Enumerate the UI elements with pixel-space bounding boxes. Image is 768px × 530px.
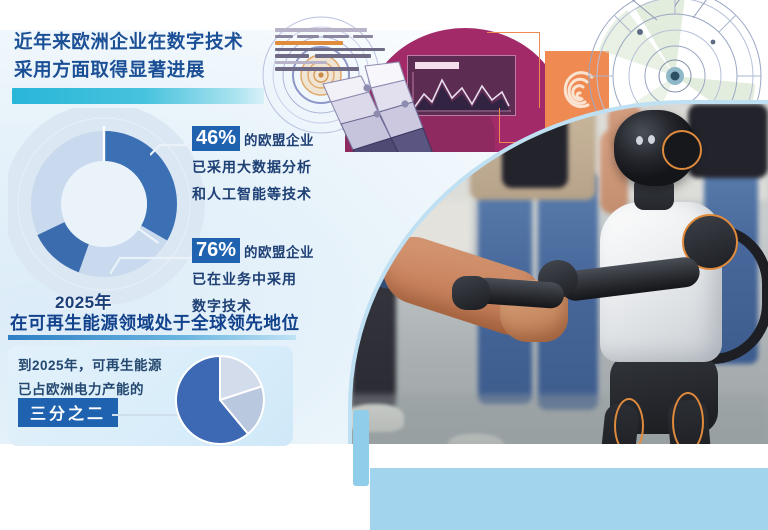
renewable-line-1: 到2025年，可再生能源 [18, 354, 162, 378]
callout-76-percent: 76% [192, 238, 240, 263]
renewable-pie-chart [170, 352, 274, 453]
callout-46-line3: 和人工智能等技术 [192, 183, 357, 205]
page-title-underline [12, 88, 264, 104]
callout-46-percent: 46% [192, 126, 240, 151]
section-title-underline [8, 335, 296, 340]
infographic-canvas: 近年来欧洲企业在数字技术 采用方面取得显著进展 2025年 46%的欧盟企业 已… [0, 0, 768, 530]
page-title: 近年来欧洲企业在数字技术 采用方面取得显著进展 [14, 28, 314, 84]
callout-46-lead: 的欧盟企业 [244, 133, 314, 148]
photo-robot-face-ring [662, 130, 702, 170]
callout-46-line2: 已采用大数据分析 [192, 156, 357, 178]
callout-76: 76%的欧盟企业 已在业务中采用 数字技术 [192, 238, 357, 317]
callout-leader-46 [150, 143, 198, 157]
blue-accent-strip [353, 410, 369, 486]
callout-76-line2: 已在业务中采用 [192, 268, 357, 290]
callout-46: 46%的欧盟企业 已采用大数据分析 和人工智能等技术 [192, 126, 357, 205]
background-bottom-blue [370, 468, 768, 530]
renewable-panel-text: 到2025年，可再生能源 已占欧洲电力产能的 [18, 354, 162, 402]
photo-robot-hand [452, 276, 490, 310]
page-title-line-2: 采用方面取得显著进展 [14, 56, 314, 84]
callout-76-lead: 的欧盟企业 [244, 245, 314, 260]
page-title-line-1: 近年来欧洲企业在数字技术 [14, 28, 314, 56]
robot-handshake-photo [352, 104, 768, 470]
renewable-share-badge: 三分之二 [18, 398, 118, 427]
section-title-renewable: 在可再生能源领域处于全球领先地位 [10, 310, 300, 335]
callout-leader-76 [110, 252, 192, 276]
bracket-decoration-top [487, 32, 540, 108]
